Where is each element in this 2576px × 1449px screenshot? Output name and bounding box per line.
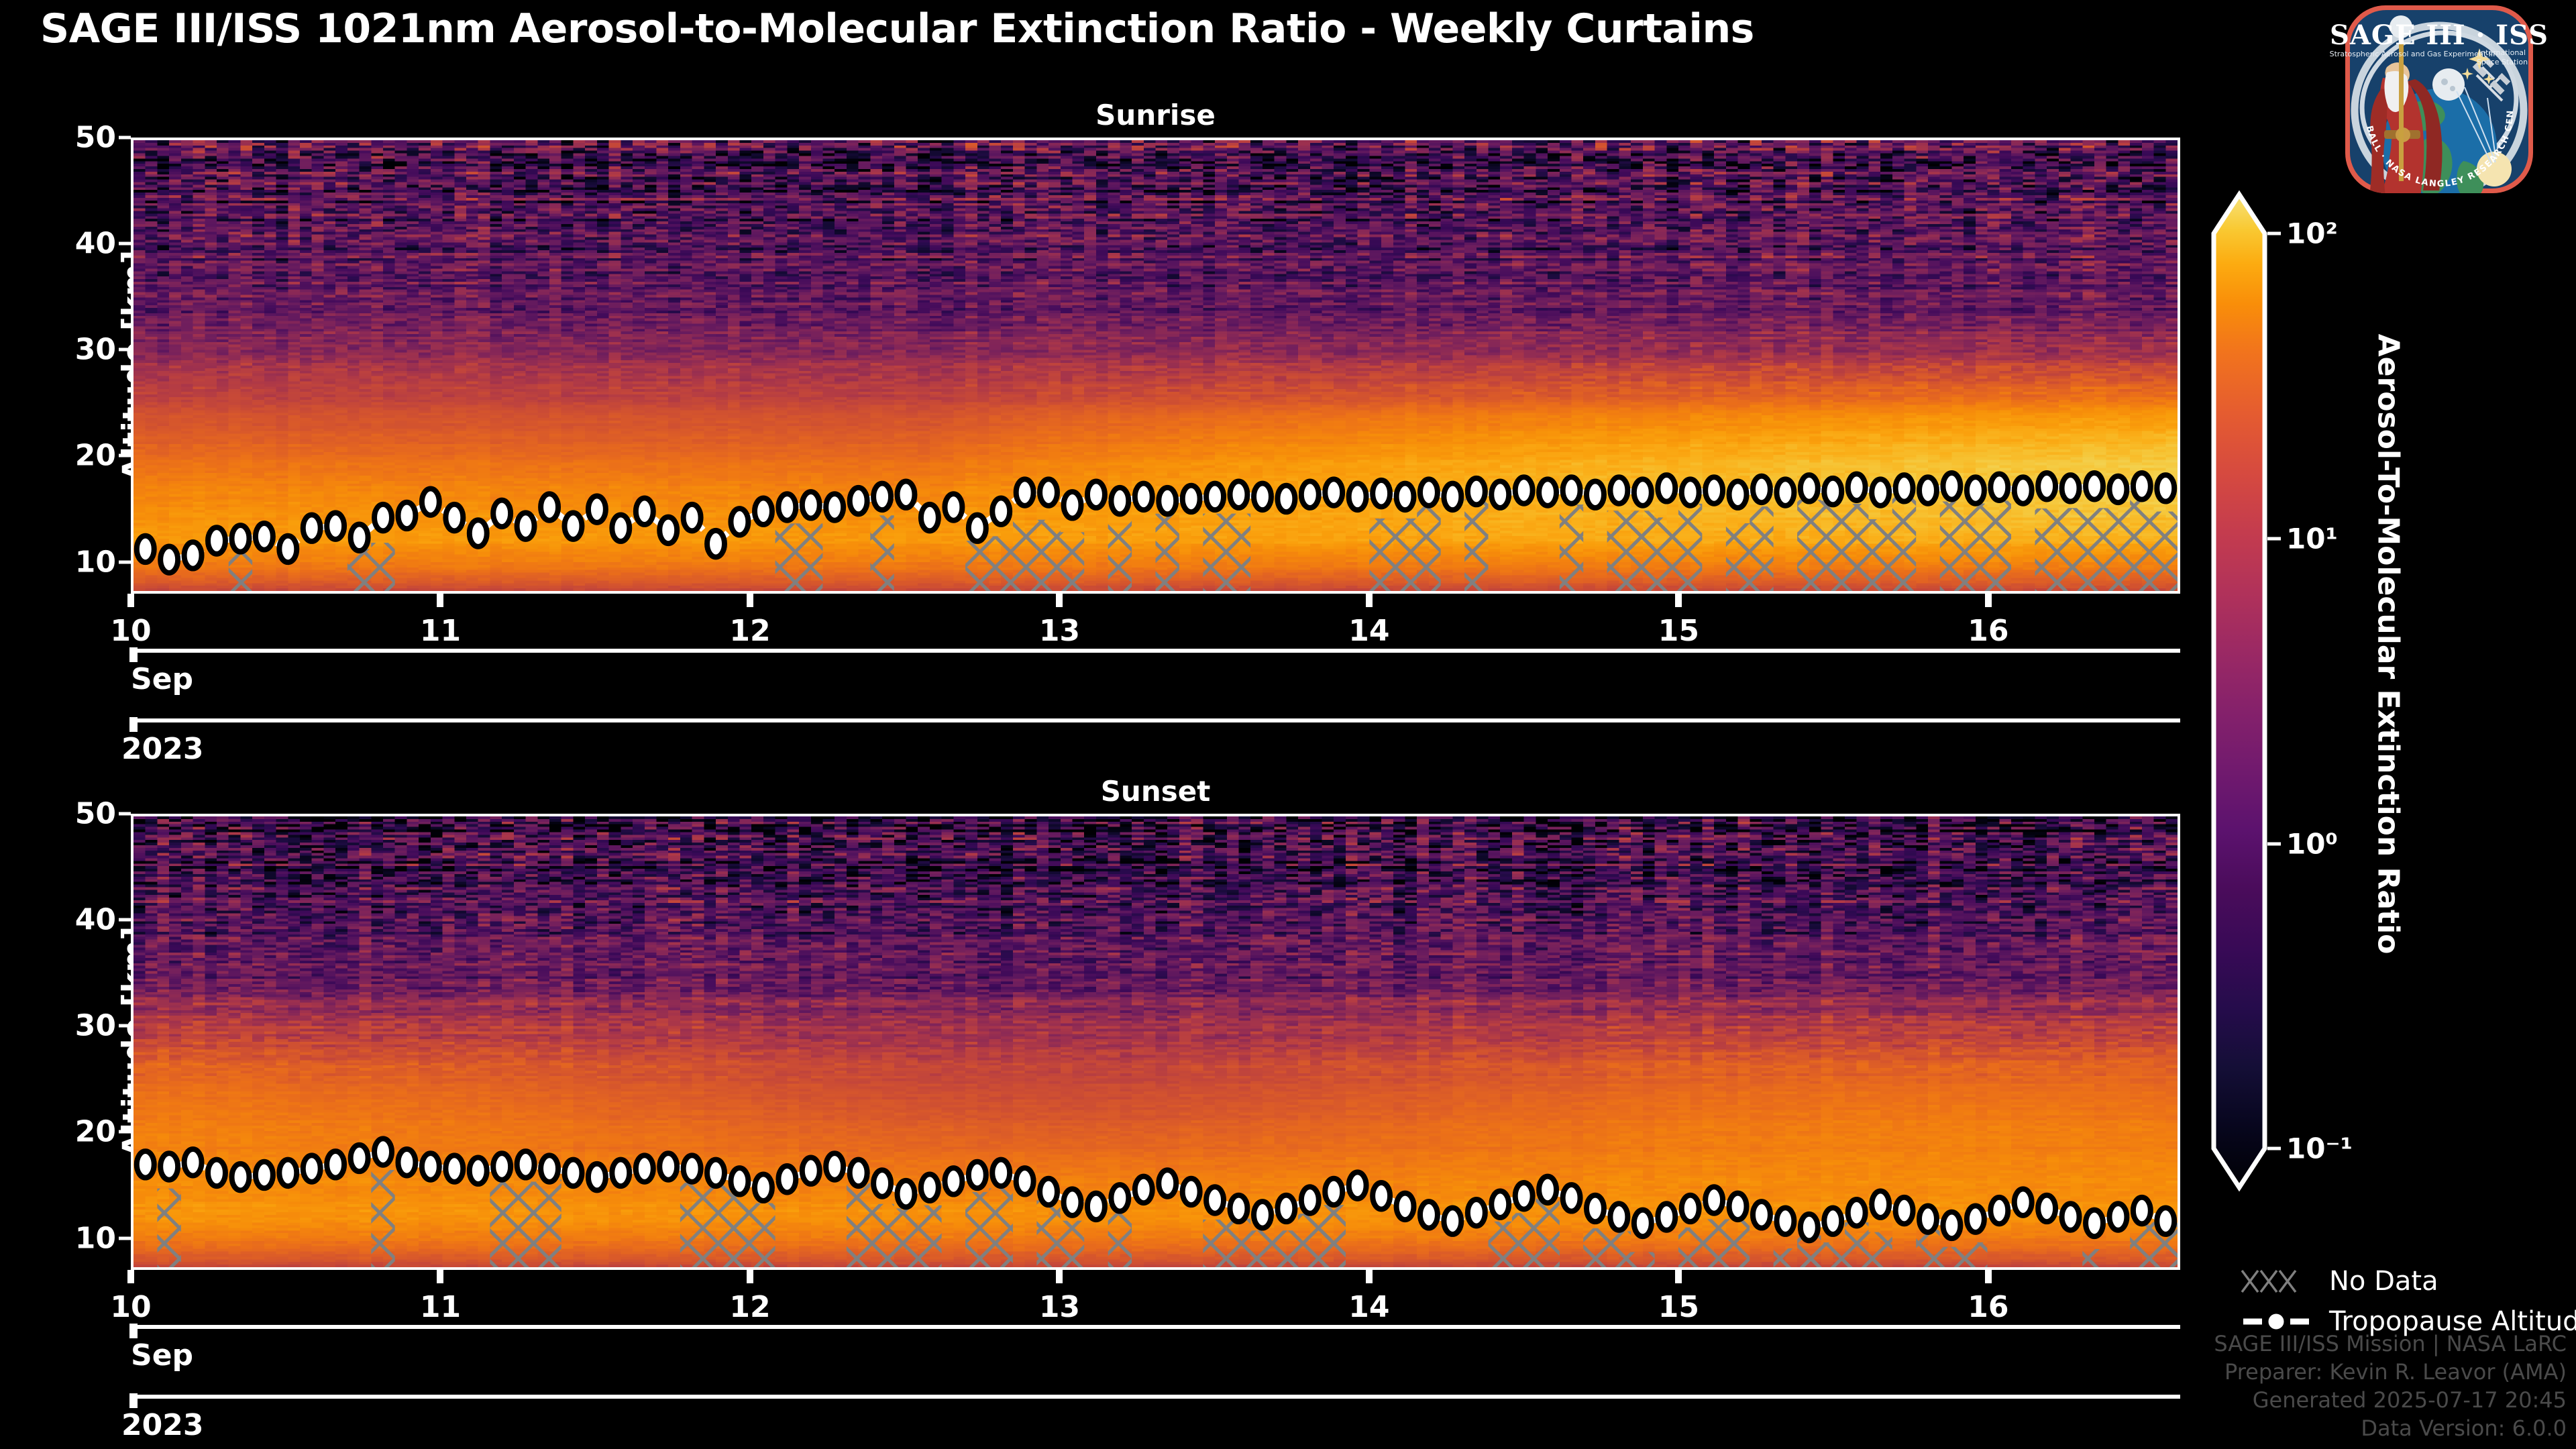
x-tick-mark <box>747 1270 753 1283</box>
y-tick-label: 10 <box>75 1221 116 1255</box>
colorbar: 10² 10¹ 10⁰ 10⁻¹ <box>2214 195 2265 1187</box>
x-tick-mark <box>127 594 134 607</box>
y-tick-label: 20 <box>75 1115 116 1149</box>
y-tick-mark <box>119 348 131 352</box>
footer-line-preparer: Preparer: Kevin R. Leavor (AMA) <box>2214 1358 2567 1386</box>
heatmap-sunrise <box>133 140 2178 591</box>
colorbar-tick-mark <box>2267 843 2281 846</box>
figure-canvas: SAGE III/ISS 1021nm Aerosol-to-Molecular… <box>0 0 2576 1449</box>
y-tick-mark <box>119 1130 131 1134</box>
colorbar-label: Aerosol-To-Molecular Extinction Ratio <box>2371 334 2406 955</box>
x-tick-mark <box>1366 594 1373 607</box>
logo-subtitle-right-1: International <box>2479 48 2526 57</box>
x-tick-label: 13 <box>1039 1290 1080 1324</box>
axes-sunset <box>131 814 2180 1270</box>
x-tick-mark <box>437 594 443 607</box>
y-tick-label: 10 <box>75 545 116 579</box>
y-tick-label: 20 <box>75 439 116 473</box>
y-tick-label: 50 <box>75 797 116 831</box>
x-tick-mark <box>1056 594 1063 607</box>
y-tick-label: 40 <box>75 227 116 261</box>
y-tick-mark <box>119 812 131 816</box>
x-tick-mark <box>1056 1270 1063 1283</box>
x-year-mark-sunset <box>129 1393 138 1408</box>
x-tick-label: 16 <box>1968 614 2008 648</box>
y-tick-label: 40 <box>75 903 116 937</box>
x-tick-label: 10 <box>110 1290 151 1324</box>
x-month-rule-sunrise <box>131 649 2180 653</box>
footer-line-mission: SAGE III/ISS Mission | NASA LaRC <box>2214 1330 2567 1358</box>
legend-label-no-data: No Data <box>2329 1266 2438 1297</box>
colorbar-tick-mark <box>2267 1147 2281 1150</box>
colorbar-tick-label-1e0: 10⁰ <box>2286 828 2338 861</box>
y-tick-label: 30 <box>75 333 116 367</box>
sage-iii-iss-logo: SAGE III · ISS Stratospheric Aerosol and… <box>2281 3 2563 196</box>
x-tick-label: 12 <box>729 614 770 648</box>
y-tick-mark <box>119 918 131 922</box>
x-tick-mark <box>747 594 753 607</box>
panel-title-sunrise: Sunrise <box>131 99 2180 131</box>
y-tick-mark <box>119 1236 131 1240</box>
y-tick-mark <box>119 454 131 458</box>
x-month-label-sunrise: Sep <box>131 662 193 696</box>
y-tick-mark <box>119 1024 131 1028</box>
legend-item-no-data: No Data <box>2241 1261 2576 1301</box>
y-tick-label: 30 <box>75 1009 116 1043</box>
x-tick-mark <box>1985 594 1992 607</box>
panel-title-sunset: Sunset <box>131 775 2180 808</box>
x-year-label-sunrise: 2023 <box>121 732 203 766</box>
logo-subtitle-right-2: Space Station <box>2477 58 2528 66</box>
page-title: SAGE III/ISS 1021nm Aerosol-to-Molecular… <box>40 5 1851 52</box>
footer-line-version: Data Version: 6.0.0 <box>2214 1414 2567 1442</box>
panel-sunset: Sunset Altitude [km] 1020304050 10111213… <box>131 814 2180 1270</box>
colorbar-tick-mark <box>2267 537 2281 541</box>
colorbar-tick-label-1e1: 10¹ <box>2286 523 2338 555</box>
x-month-mark-sunset <box>129 1324 138 1338</box>
x-tick-mark <box>127 1270 134 1283</box>
x-year-rule-sunset <box>131 1395 2180 1399</box>
y-tick-mark <box>119 560 131 563</box>
hatch-nodata-icon <box>2241 1267 2314 1296</box>
x-tick-label: 10 <box>110 614 151 648</box>
x-tick-label: 15 <box>1658 614 1699 648</box>
x-tick-label: 14 <box>1348 1290 1389 1324</box>
x-tick-label: 12 <box>729 1290 770 1324</box>
colorbar-tick-label-1em1: 10⁻¹ <box>2286 1132 2353 1165</box>
footer-credits: SAGE III/ISS Mission | NASA LaRC Prepare… <box>2214 1330 2567 1442</box>
colorbar-tick-label-1e2: 10² <box>2286 217 2338 250</box>
axes-sunrise <box>131 138 2180 594</box>
heatmap-sunset <box>133 816 2178 1267</box>
colorbar-tick-mark <box>2267 232 2281 235</box>
x-tick-label: 15 <box>1658 1290 1699 1324</box>
x-tick-mark <box>1675 1270 1682 1283</box>
x-year-mark-sunrise <box>129 717 138 732</box>
x-tick-label: 16 <box>1968 1290 2008 1324</box>
logo-subtitle-left: Stratospheric Aerosol and Gas Experiment… <box>2330 50 2495 58</box>
y-tick-mark <box>119 136 131 140</box>
x-tick-mark <box>1366 1270 1373 1283</box>
x-tick-label: 14 <box>1348 614 1389 648</box>
x-month-mark-sunrise <box>129 647 138 662</box>
colorbar-gradient <box>2214 195 2265 1187</box>
y-tick-label: 50 <box>75 121 116 155</box>
x-month-rule-sunset <box>131 1325 2180 1329</box>
panel-sunrise: Sunrise Altitude [km] 1020304050 1011121… <box>131 138 2180 594</box>
x-month-label-sunset: Sep <box>131 1338 193 1373</box>
x-year-rule-sunrise <box>131 718 2180 722</box>
x-tick-mark <box>437 1270 443 1283</box>
x-tick-mark <box>1675 594 1682 607</box>
x-tick-label: 11 <box>420 614 461 648</box>
x-tick-mark <box>1985 1270 1992 1283</box>
footer-line-generated: Generated 2025-07-17 20:45 <box>2214 1386 2567 1414</box>
x-tick-label: 11 <box>420 1290 461 1324</box>
y-tick-mark <box>119 242 131 246</box>
logo-title: SAGE III · ISS <box>2330 19 2548 51</box>
x-year-label-sunset: 2023 <box>121 1408 203 1442</box>
x-tick-label: 13 <box>1039 614 1080 648</box>
